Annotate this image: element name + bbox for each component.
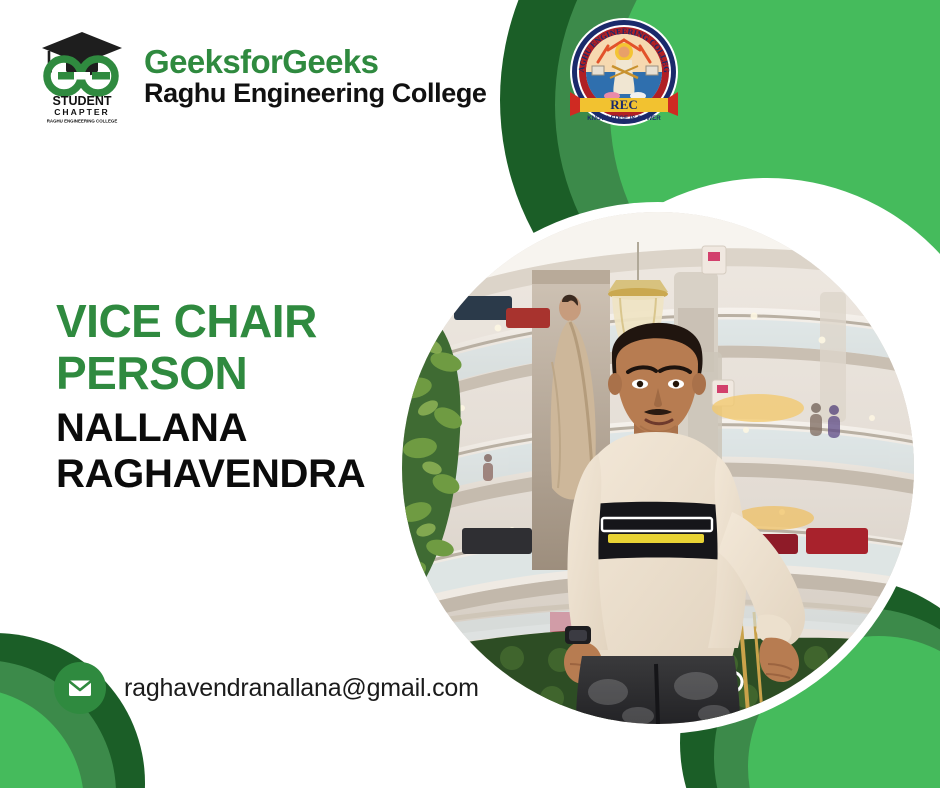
person-name-line-1: NALLANA xyxy=(56,405,365,451)
logo-badge-line1: STUDENT xyxy=(52,94,111,108)
college-seal: RAGHU ENGINEERING COLLEGE REC KNOWLEDGE … xyxy=(568,16,680,128)
portrait-illustration xyxy=(402,212,914,724)
brand-subtitle: Raghu Engineering College xyxy=(144,79,487,107)
contact-email-row[interactable]: raghavendranallana@gmail.com xyxy=(54,662,479,714)
poster-canvas: STUDENT CHAPTER RAGHU ENGINEERING COLLEG… xyxy=(0,0,940,788)
role-line-1: VICE CHAIR xyxy=(56,296,365,348)
seal-center-text: REC xyxy=(610,97,637,112)
college-seal-icon: RAGHU ENGINEERING COLLEGE REC KNOWLEDGE … xyxy=(568,16,680,128)
brand-wordmark-group: GeeksforGeeks Raghu Engineering College xyxy=(144,45,487,107)
brand-header: STUDENT CHAPTER RAGHU ENGINEERING COLLEG… xyxy=(36,28,487,124)
logo-badge-line3: RAGHU ENGINEERING COLLEGE xyxy=(47,119,118,124)
portrait-photo xyxy=(402,212,914,724)
seal-motto: KNOWLEDGE IS POWER xyxy=(587,115,661,122)
contact-email-text: raghavendranallana@gmail.com xyxy=(124,674,479,703)
person-name-block: NALLANA RAGHAVENDRA xyxy=(56,405,365,498)
role-line-2: PERSON xyxy=(56,348,365,400)
envelope-icon xyxy=(54,662,106,714)
envelope-glyph xyxy=(66,674,94,702)
person-name-line-2: RAGHAVENDRA xyxy=(56,451,365,497)
role-and-name-block: VICE CHAIR PERSON NALLANA RAGHAVENDRA xyxy=(56,296,365,498)
brand-title: GeeksforGeeks xyxy=(144,45,487,79)
logo-badge-line2: CHAPTER xyxy=(54,107,110,117)
geeksforgeeks-student-chapter-logo: STUDENT CHAPTER RAGHU ENGINEERING COLLEG… xyxy=(36,28,128,124)
gfg-logo-icon: STUDENT CHAPTER RAGHU ENGINEERING COLLEG… xyxy=(36,28,128,124)
